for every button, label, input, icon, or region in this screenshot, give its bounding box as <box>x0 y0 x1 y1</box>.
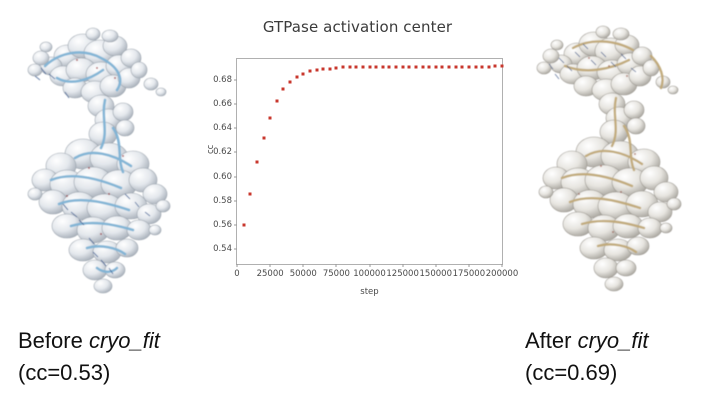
x-tick-label: 100000 <box>353 269 385 279</box>
x-tick-label: 25000 <box>257 269 284 279</box>
x-tick-mark <box>435 264 436 267</box>
structure-image-before <box>5 8 205 308</box>
data-point <box>467 65 470 68</box>
data-point <box>295 76 298 79</box>
y-tick-label: 0.60 <box>213 172 237 182</box>
data-point <box>494 65 497 68</box>
y-axis-label: cc <box>206 145 216 154</box>
caption-after-value: (cc=0.69) <box>525 357 649 389</box>
ribosome-density-map-after-icon <box>515 8 715 308</box>
y-tick-label: 0.58 <box>213 196 237 206</box>
data-point <box>355 66 358 69</box>
data-point <box>249 192 252 195</box>
x-tick-mark <box>369 264 370 267</box>
caption-after-program: cryo_fit <box>578 328 649 353</box>
data-point <box>421 65 424 68</box>
x-tick-mark <box>270 264 271 267</box>
structure-image-after <box>515 8 715 308</box>
data-point <box>434 65 437 68</box>
x-tick-label: 75000 <box>323 269 350 279</box>
x-tick-mark <box>303 264 304 267</box>
caption-before-value: (cc=0.53) <box>18 357 160 389</box>
x-tick-label: 125000 <box>386 269 418 279</box>
x-tick-label: 50000 <box>290 269 317 279</box>
x-tick-label: 150000 <box>420 269 452 279</box>
data-point <box>342 66 345 69</box>
data-point <box>481 65 484 68</box>
y-tick-label: 0.66 <box>213 99 237 109</box>
data-point <box>335 67 338 70</box>
data-point <box>414 65 417 68</box>
data-point <box>474 65 477 68</box>
data-point <box>388 66 391 69</box>
data-point <box>302 72 305 75</box>
chart-title: GTPase activation center <box>205 18 510 36</box>
caption-before-prefix: Before <box>18 328 89 353</box>
caption-before: Before cryo_fit (cc=0.53) <box>18 325 160 389</box>
x-tick-label: 0 <box>234 269 239 279</box>
y-tick-label: 0.62 <box>213 147 237 157</box>
y-tick-label: 0.54 <box>213 244 237 254</box>
data-point <box>448 65 451 68</box>
plot-area: 0.540.560.580.600.620.640.660.6802500050… <box>236 58 503 265</box>
x-tick-label: 200000 <box>486 269 518 279</box>
caption-after-prefix: After <box>525 328 578 353</box>
x-tick-mark <box>502 264 503 267</box>
caption-after: After cryo_fit (cc=0.69) <box>525 325 649 389</box>
x-tick-label: 175000 <box>453 269 485 279</box>
data-point <box>428 65 431 68</box>
data-point <box>361 66 364 69</box>
data-point <box>375 66 378 69</box>
data-point <box>501 65 504 68</box>
data-point <box>454 65 457 68</box>
data-point <box>401 65 404 68</box>
data-point <box>441 65 444 68</box>
x-axis-label: step <box>236 287 503 297</box>
data-point <box>242 224 245 227</box>
x-tick-mark <box>336 264 337 267</box>
y-tick-label: 0.64 <box>213 123 237 133</box>
data-point <box>322 67 325 70</box>
data-point <box>368 66 371 69</box>
data-point <box>408 65 411 68</box>
cc-vs-step-chart: GTPase activation center 0.540.560.580.6… <box>205 8 510 303</box>
data-point <box>487 65 490 68</box>
y-tick-label: 0.68 <box>213 75 237 85</box>
ribosome-density-map-before-icon <box>5 8 205 308</box>
data-point <box>308 70 311 73</box>
data-point <box>262 136 265 139</box>
data-point <box>315 68 318 71</box>
data-point <box>275 100 278 103</box>
data-point <box>269 117 272 120</box>
x-tick-mark <box>468 264 469 267</box>
x-tick-mark <box>237 264 238 267</box>
caption-before-program: cryo_fit <box>89 328 160 353</box>
x-tick-mark <box>402 264 403 267</box>
data-point <box>348 66 351 69</box>
data-point <box>381 66 384 69</box>
data-point <box>282 88 285 91</box>
data-point <box>328 67 331 70</box>
data-point <box>255 161 258 164</box>
data-point <box>289 81 292 84</box>
data-point <box>395 65 398 68</box>
data-point <box>461 65 464 68</box>
y-tick-label: 0.56 <box>213 220 237 230</box>
